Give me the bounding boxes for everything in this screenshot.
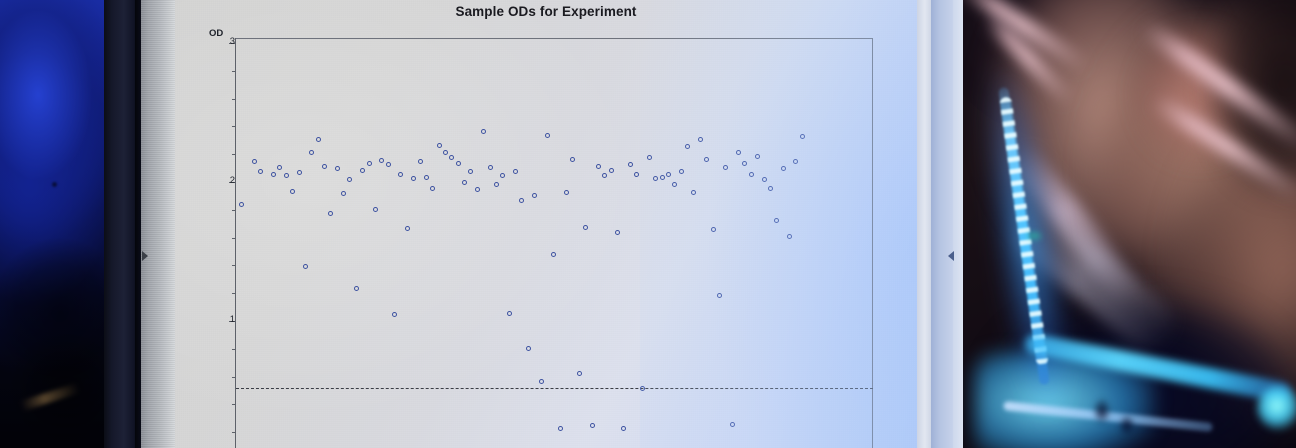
scatter-chart: Sample ODs for Experiment OD 123 [175, 0, 917, 448]
data-point [481, 129, 486, 134]
data-point [558, 426, 563, 431]
data-point [755, 154, 760, 159]
screenshot-stage: Sample ODs for Experiment OD 123 [0, 0, 1296, 448]
data-point [717, 293, 722, 298]
data-point [698, 137, 703, 142]
data-point [774, 218, 779, 223]
data-point [634, 172, 639, 177]
chart-title: Sample ODs for Experiment [175, 4, 917, 19]
left-scroll-strip[interactable] [141, 0, 175, 448]
data-point [545, 133, 550, 138]
data-point [437, 143, 442, 148]
data-point [303, 264, 308, 269]
data-point [322, 164, 327, 169]
scroll-right-arrow-icon[interactable] [142, 251, 148, 261]
data-point [405, 226, 410, 231]
y-tick-label: 2 [195, 175, 235, 186]
data-point [386, 162, 391, 167]
data-point [539, 379, 544, 384]
data-point [704, 157, 709, 162]
data-point [316, 137, 321, 142]
data-point [354, 286, 359, 291]
data-point [564, 190, 569, 195]
data-point [418, 159, 423, 164]
background-photo [963, 0, 1296, 448]
left-blue-glow-panel [0, 0, 104, 448]
y-tick-minor [232, 99, 236, 100]
data-point [583, 225, 588, 230]
data-point [456, 161, 461, 166]
data-point [532, 193, 537, 198]
y-tick-minor [232, 126, 236, 127]
data-point [271, 172, 276, 177]
data-point [284, 173, 289, 178]
data-point [749, 172, 754, 177]
scroll-left-arrow-icon[interactable] [948, 251, 954, 261]
y-tick-minor [232, 377, 236, 378]
y-tick-minor [232, 349, 236, 350]
glowing-tube-tip [1257, 386, 1296, 430]
y-tick-minor [232, 265, 236, 266]
right-scroll-strip[interactable] [931, 0, 953, 448]
y-tick-label: 3 [195, 36, 235, 47]
data-point [443, 150, 448, 155]
data-point [526, 346, 531, 351]
photo-teal-fleck [1027, 232, 1041, 240]
data-point [679, 169, 684, 174]
y-tick-minor [232, 432, 236, 433]
y-tick-label: 1 [195, 314, 235, 325]
data-point [596, 164, 601, 169]
photo-dark-speck-2 [1119, 414, 1135, 436]
data-point [768, 186, 773, 191]
data-point [628, 162, 633, 167]
data-point [507, 311, 512, 316]
photo-dark-speck-1 [1093, 398, 1111, 424]
data-point [666, 172, 671, 177]
data-point [577, 371, 582, 376]
data-point [609, 168, 614, 173]
y-axis-ticks: 123 [175, 0, 235, 448]
y-tick-minor [232, 71, 236, 72]
data-point [373, 207, 378, 212]
y-tick-minor [232, 238, 236, 239]
data-point [488, 165, 493, 170]
data-point [647, 155, 652, 160]
data-point [475, 187, 480, 192]
dust-speck [52, 182, 57, 187]
data-point [660, 175, 665, 180]
data-point [360, 168, 365, 173]
right-strip-inner [917, 0, 931, 448]
data-point [781, 166, 786, 171]
data-point [494, 182, 499, 187]
plot-area-frame [235, 38, 873, 448]
data-point [367, 161, 372, 166]
right-strip-outer [953, 0, 963, 448]
data-point [424, 175, 429, 180]
data-point [672, 182, 677, 187]
y-tick-minor [232, 293, 236, 294]
y-tick-minor [232, 210, 236, 211]
data-point [762, 177, 767, 182]
data-point [290, 189, 295, 194]
data-point [736, 150, 741, 155]
data-point [730, 422, 735, 427]
threshold-line [236, 388, 873, 389]
y-tick-minor [232, 154, 236, 155]
y-tick-minor [232, 404, 236, 405]
data-point [309, 150, 314, 155]
